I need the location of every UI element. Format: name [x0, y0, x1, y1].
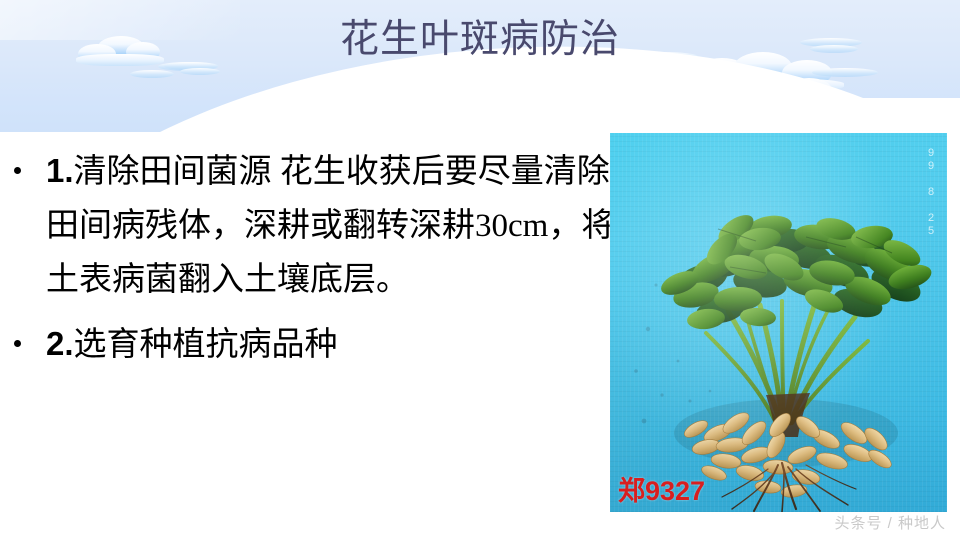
bullet-lead-number: 2. [46, 325, 74, 362]
bullet-lead-number: 1. [46, 152, 74, 189]
list-item: 2.选育种植抗病品种 [0, 317, 615, 372]
bullet-body-text: 清除田间菌源 花生收获后要尽量清除田间病残体，深耕或翻转深耕30cm，将土表病菌… [46, 154, 614, 298]
photo-date-stamp: 99 8 25 [923, 147, 937, 238]
bullet-body-text: 选育种植抗病品种 [74, 327, 338, 363]
bullet-list: 1.清除田间菌源 花生收获后要尽量清除田间病残体，深耕或翻转深耕30cm，将土表… [0, 140, 615, 470]
bullet-dot-icon [14, 167, 21, 174]
photo-vignette [610, 133, 947, 512]
photo-variety-label: 郑9327 [618, 476, 705, 506]
footer-watermark: 头条号 / 种地人 [834, 514, 946, 534]
bullet-content: 2.选育种植抗病品种 [46, 317, 615, 372]
bullet-dot-icon [14, 340, 21, 347]
bullet-content: 1.清除田间菌源 花生收获后要尽量清除田间病残体，深耕或翻转深耕30cm，将土表… [46, 144, 615, 307]
page-title: 花生叶斑病防治 [0, 16, 960, 64]
list-item: 1.清除田间菌源 花生收获后要尽量清除田间病残体，深耕或翻转深耕30cm，将土表… [0, 144, 615, 307]
peanut-plant-photo: 99 8 25 郑9327 [610, 133, 947, 512]
slide-root: 花生叶斑病防治 1.清除田间菌源 花生收获后要尽量清除田间病残体，深耕或翻转深耕… [0, 0, 960, 540]
header-swoosh-flat [560, 98, 960, 132]
